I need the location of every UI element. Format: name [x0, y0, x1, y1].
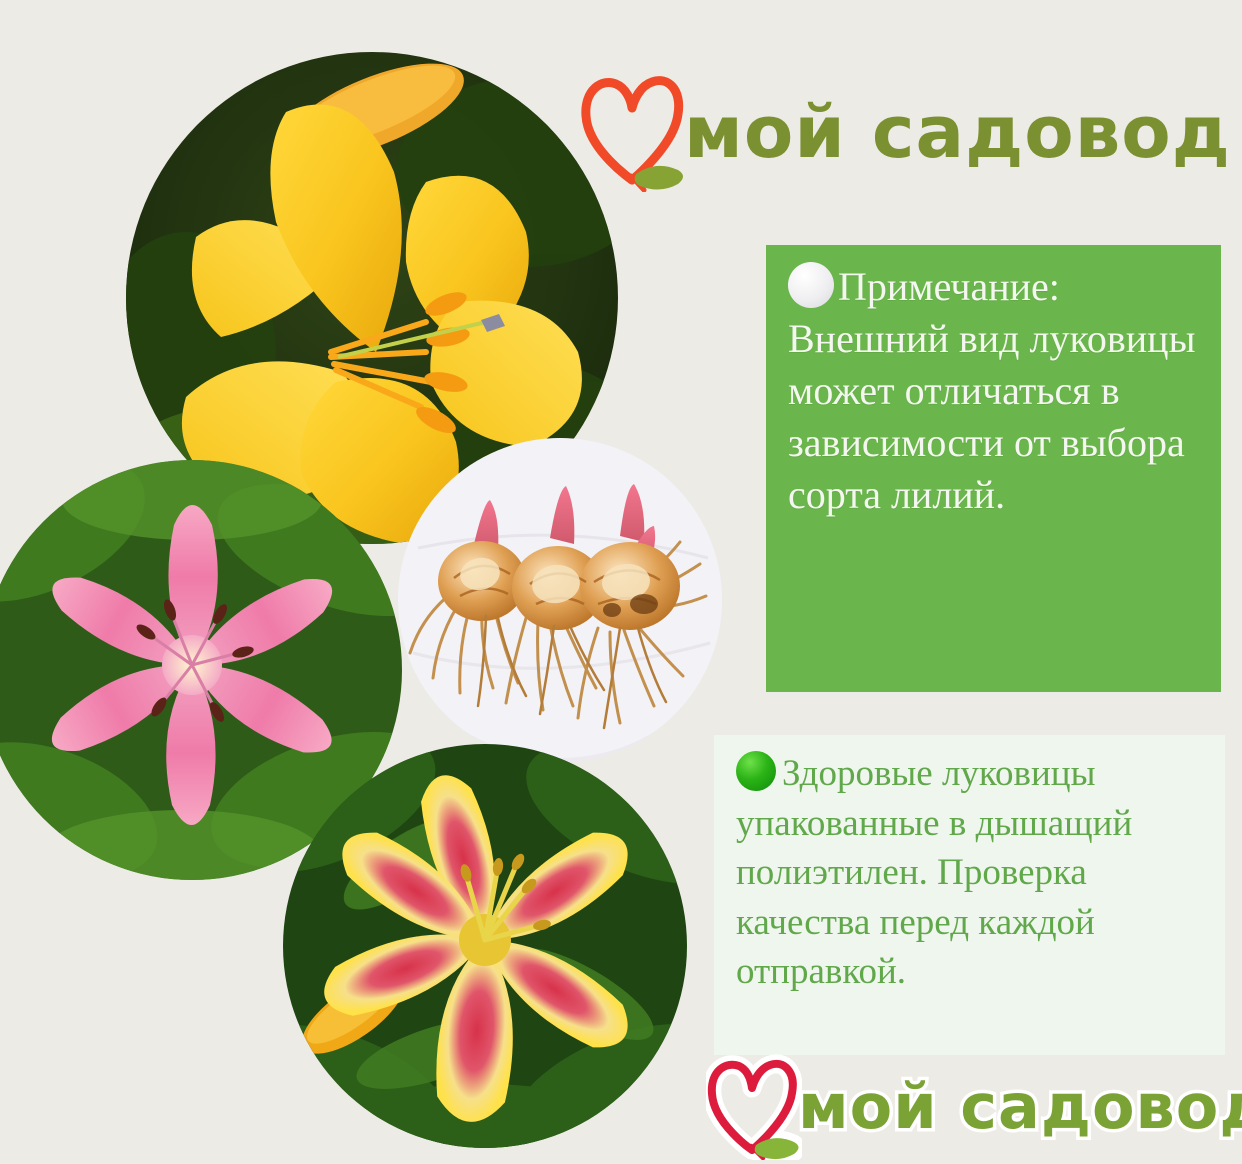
quality-box-text: Здоровые луковицы упакованные в дышащий … — [736, 749, 1211, 997]
note-box-text: Примечание: Внешний вид луковицы может о… — [788, 261, 1205, 521]
poster-canvas: мой садовод Примечание: Внешний вид луко… — [0, 0, 1242, 1164]
brand-wordmark-bottom: мой садовод — [798, 1076, 1242, 1138]
quality-box: Здоровые луковицы упакованные в дышащий … — [714, 735, 1225, 1055]
heart-outline-icon — [578, 64, 690, 192]
heart-outline-icon — [706, 1050, 802, 1160]
heart-leaf-logo-mark — [578, 64, 690, 192]
brand-logo-top: мой садовод — [578, 58, 1223, 198]
green-circle-bullet-icon — [736, 751, 776, 791]
red-yellow-lily-photo — [283, 744, 687, 1148]
note-box-body: Примечание: Внешний вид луковицы может о… — [788, 264, 1195, 517]
lily-bulbs-photo — [398, 438, 722, 762]
note-box: Примечание: Внешний вид луковицы может о… — [766, 245, 1221, 692]
brand-wordmark-top: мой садовод — [684, 96, 1231, 168]
quality-box-body: Здоровые луковицы упакованные в дышащий … — [736, 753, 1132, 992]
brand-logo-bottom: мой садовод — [706, 1046, 1226, 1164]
heart-leaf-logo-mark-bottom — [706, 1050, 802, 1160]
white-circle-bullet-icon — [788, 262, 834, 308]
